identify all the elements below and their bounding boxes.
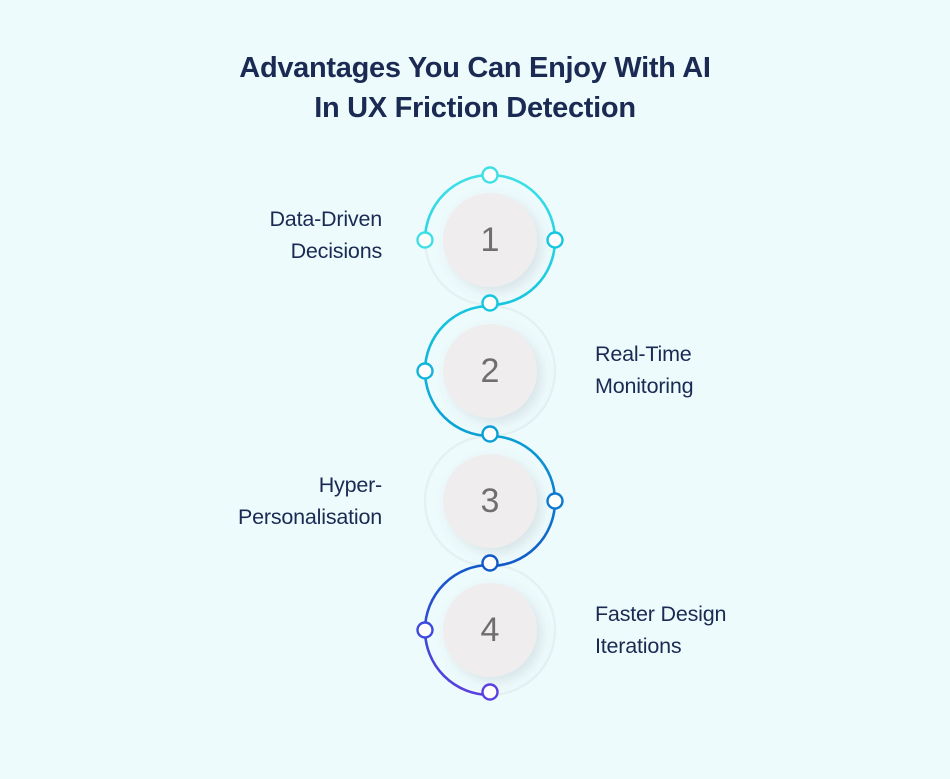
node-marker-left-step-1 xyxy=(418,233,433,248)
step-2-group[interactable]: 2 xyxy=(425,306,537,436)
step-label-faster-design-iterations: Faster Design Iterations xyxy=(595,598,726,662)
node-marker-left-step-4 xyxy=(418,623,433,638)
step-2-number: 2 xyxy=(481,352,500,390)
node-marker-left-step-2 xyxy=(418,364,433,379)
node-marker-between-3-4 xyxy=(483,556,498,571)
step-4-number: 4 xyxy=(481,611,500,649)
node-marker-bottom-step-4 xyxy=(483,685,498,700)
steps-diagram: 1 2 3 4 xyxy=(0,0,950,779)
step-1-number: 1 xyxy=(481,221,500,259)
infographic-canvas: Advantages You Can Enjoy With AI In UX F… xyxy=(0,0,950,779)
step-3-group[interactable]: 3 xyxy=(443,436,555,566)
node-marker-between-1-2 xyxy=(483,296,498,311)
step-4-group[interactable]: 4 xyxy=(425,565,537,695)
node-marker-right-step-3 xyxy=(548,494,563,509)
node-marker-right-step-1 xyxy=(548,233,563,248)
step-3-number: 3 xyxy=(481,482,500,520)
node-marker-top-step-1 xyxy=(483,168,498,183)
step-label-real-time-monitoring: Real-Time Monitoring xyxy=(595,338,693,402)
step-label-hyper-personalisation: Hyper- Personalisation xyxy=(238,469,382,533)
node-marker-between-2-3 xyxy=(483,427,498,442)
step-label-data-driven-decisions: Data-Driven Decisions xyxy=(269,203,382,267)
